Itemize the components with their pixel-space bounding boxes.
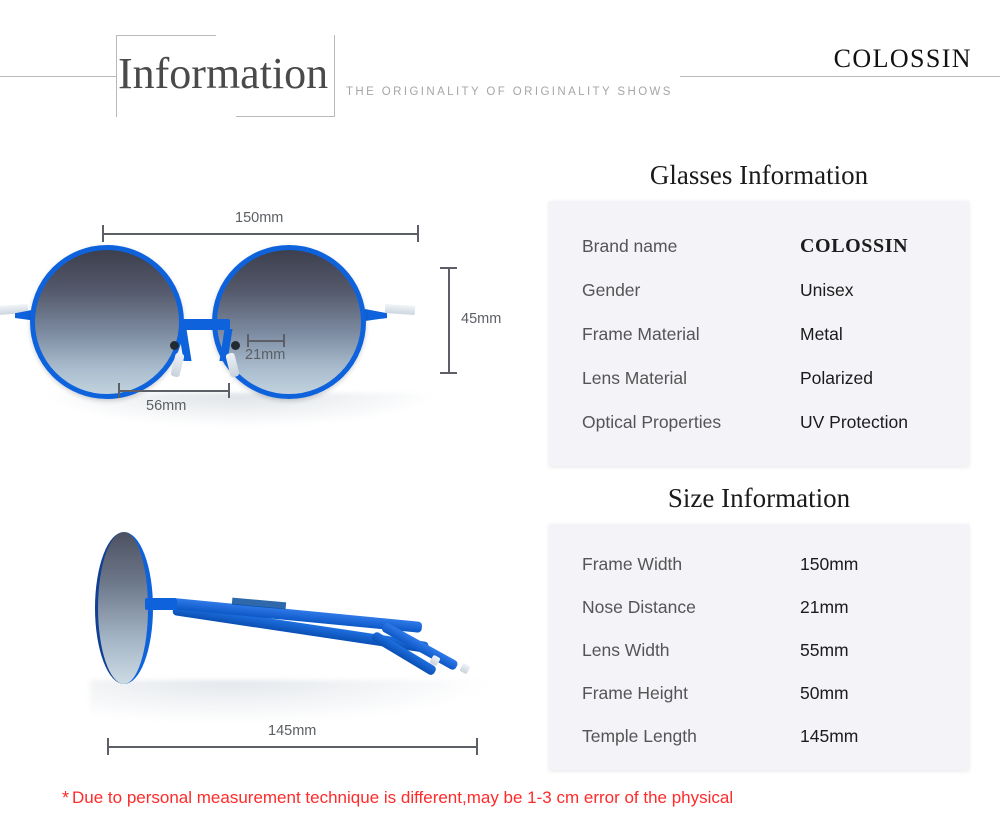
row-value: Polarized [800, 368, 873, 389]
measure-cap-frame-width-right [417, 225, 419, 242]
row-key: Lens Material [582, 368, 800, 389]
measure-line-temple-length [107, 746, 477, 748]
size-information-panel: Frame Width 150mm Nose Distance 21mm Len… [549, 524, 969, 770]
measure-cap-temple-left [107, 738, 109, 755]
product-diagram: 150mm 45mm 21mm 56mm 145mm [0, 150, 545, 790]
nose-bridge [180, 319, 230, 330]
row-key: Frame Height [582, 683, 800, 704]
side-view-shadow [90, 680, 490, 722]
page-title: Information [118, 48, 328, 100]
measure-label-temple-length: 145mm [268, 723, 316, 739]
row-value: 55mm [800, 640, 849, 661]
table-row: Gender Unisex [549, 268, 969, 312]
frame-line-right [334, 35, 335, 117]
glasses-information-title: Glasses Information [549, 160, 969, 191]
sunglasses-front-view-image [30, 245, 450, 415]
measure-cap-nose-left [247, 334, 249, 347]
row-value: 50mm [800, 683, 849, 704]
row-value: Unisex [800, 280, 854, 301]
footnote-text: Due to personal measurement technique is… [72, 788, 733, 807]
row-value: UV Protection [800, 412, 908, 433]
frame-line-left [116, 35, 117, 117]
temple-arm-right-outer [385, 304, 416, 315]
header-rule-left [0, 76, 117, 77]
row-value: 150mm [800, 554, 858, 575]
glasses-information-panel: Brand name COLOSSIN Gender Unisex Frame … [549, 201, 969, 466]
table-row: Frame Material Metal [549, 312, 969, 356]
hinge-left [170, 341, 179, 350]
table-row: Optical Properties UV Protection [549, 400, 969, 444]
asterisk-icon: * [62, 788, 69, 808]
measure-cap-temple-right [476, 738, 478, 755]
row-key: Frame Width [582, 554, 800, 575]
page-header: Information THE ORIGINALITY OF ORIGINALI… [0, 0, 1000, 130]
measure-label-nose-distance: 21mm [245, 347, 285, 363]
measure-cap-frame-height-top [440, 267, 457, 269]
frame-line-top [116, 35, 216, 36]
measure-line-lens-width [118, 390, 229, 392]
measure-line-frame-height [448, 267, 450, 373]
row-key: Optical Properties [582, 412, 800, 433]
table-row: Frame Height 50mm [549, 672, 969, 715]
measure-cap-lens-right [228, 383, 230, 398]
measure-cap-nose-right [283, 334, 285, 347]
table-row: Lens Material Polarized [549, 356, 969, 400]
side-hinge [145, 598, 177, 610]
row-key: Brand name [582, 236, 800, 257]
row-key: Nose Distance [582, 597, 800, 618]
page-subtitle: THE ORIGINALITY OF ORIGINALITY SHOWS [346, 86, 673, 98]
sunglasses-side-view-image [95, 530, 515, 710]
row-key: Gender [582, 280, 800, 301]
size-information-title: Size Information [549, 483, 969, 514]
table-row: Brand name COLOSSIN [549, 224, 969, 268]
footnote-disclaimer: *Due to personal measurement technique i… [62, 788, 733, 809]
row-value: 21mm [800, 597, 849, 618]
table-row: Lens Width 55mm [549, 629, 969, 672]
lens-left [30, 245, 184, 399]
measure-cap-frame-width-left [102, 225, 104, 242]
endpiece-right [365, 309, 387, 321]
row-value: COLOSSIN [800, 235, 908, 258]
table-row: Frame Width 150mm [549, 543, 969, 586]
measure-line-nose-distance [247, 340, 284, 342]
measure-cap-lens-left [118, 383, 120, 398]
measure-cap-frame-height-bottom [440, 372, 457, 374]
measure-label-frame-height: 45mm [461, 311, 501, 327]
hinge-right [231, 341, 240, 350]
side-temple-end-near [459, 663, 470, 675]
row-value: 145mm [800, 726, 858, 747]
row-key: Frame Material [582, 324, 800, 345]
row-value: Metal [800, 324, 843, 345]
frame-line-bottom [236, 116, 335, 117]
header-rule-right [680, 76, 1000, 77]
table-row: Nose Distance 21mm [549, 586, 969, 629]
row-key: Lens Width [582, 640, 800, 661]
table-row: Temple Length 145mm [549, 715, 969, 758]
row-key: Temple Length [582, 726, 800, 747]
measure-line-frame-width [102, 233, 418, 235]
measure-label-frame-width: 150mm [235, 210, 283, 226]
brand-logo: COLOSSIN [834, 44, 972, 74]
measure-label-lens-width: 56mm [146, 398, 186, 414]
